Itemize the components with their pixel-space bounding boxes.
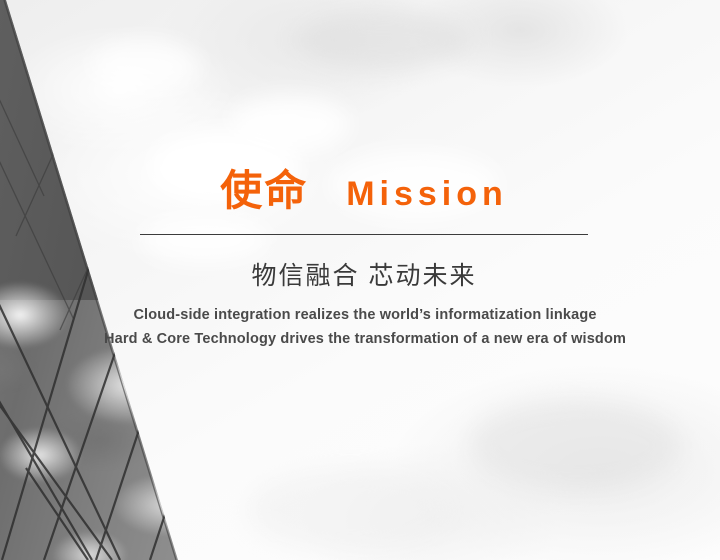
heading-chinese: 使命 <box>220 170 308 212</box>
slide-heading: 使命 Mission <box>140 170 588 212</box>
heading-divider <box>140 234 588 235</box>
subtitle-chinese: 物信融合 芯动未来 <box>140 256 588 292</box>
description-line-2: Hard & Core Technology drives the transf… <box>60 327 670 351</box>
heading-english: Mission <box>346 177 508 211</box>
description-line-1: Cloud-side integration realizes the worl… <box>60 303 670 327</box>
mission-slide: 使命 Mission 物信融合 芯动未来 Cloud-side integrat… <box>0 0 720 560</box>
slide-content: 使命 Mission 物信融合 芯动未来 Cloud-side integrat… <box>0 0 720 560</box>
description-block: Cloud-side integration realizes the worl… <box>60 303 670 351</box>
